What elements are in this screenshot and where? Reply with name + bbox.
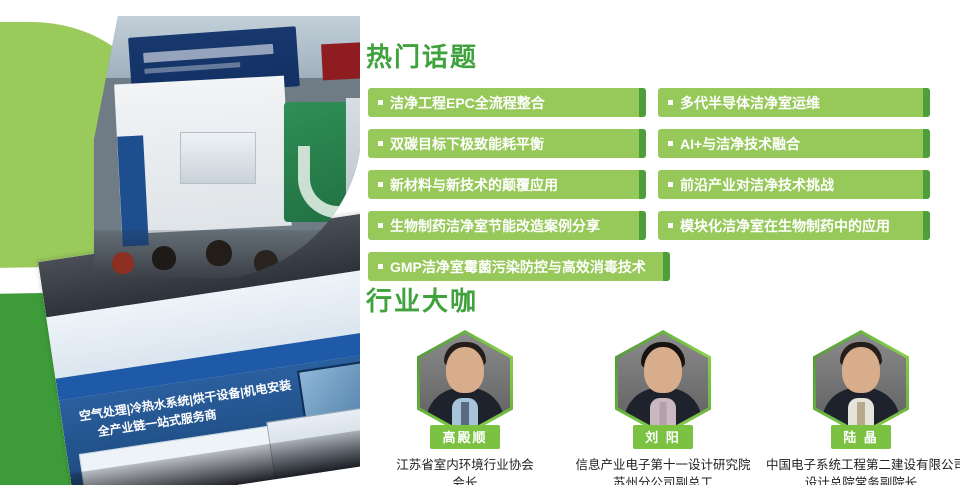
- expert-name-badge: 刘 阳: [633, 425, 693, 449]
- topic-tag[interactable]: 生物制药洁净室节能改造案例分享: [368, 211, 646, 240]
- expert-description: 信息产业电子第十一设计研究院 苏州分公司副总工: [568, 456, 758, 485]
- avatar: [417, 330, 513, 436]
- topic-tag-label: 多代半导体洁净室运维: [680, 93, 820, 113]
- bullet-square-icon: [378, 141, 383, 146]
- topic-tag[interactable]: 洁净工程EPC全流程整合: [368, 88, 646, 117]
- topic-row: 新材料与新技术的颠覆应用 前沿产业对洁净技术挑战: [368, 170, 960, 199]
- topic-tag[interactable]: GMP洁净室霉菌污染防控与高效消毒技术: [368, 252, 670, 281]
- expert-name-badge: 陆 晶: [831, 425, 891, 449]
- expert-org: 江苏省室内环境行业协会: [370, 456, 560, 474]
- expert-description: 中国电子系统工程第二建设有限公司 设计总院常务副院长: [766, 456, 956, 485]
- hall-crowd: [94, 230, 360, 278]
- topic-tag-label: 洁净工程EPC全流程整合: [390, 93, 545, 113]
- topic-tag-label: 双碳目标下极致能耗平衡: [390, 134, 544, 154]
- bullet-square-icon: [378, 223, 383, 228]
- bullet-square-icon: [668, 141, 673, 146]
- expert-card[interactable]: 陆 晶 中国电子系统工程第二建设有限公司 设计总院常务副院长: [762, 330, 960, 485]
- topic-tag[interactable]: 多代半导体洁净室运维: [658, 88, 930, 117]
- bullet-square-icon: [378, 182, 383, 187]
- topic-tag-label: 生物制药洁净室节能改造案例分享: [390, 216, 600, 236]
- avatar: [813, 330, 909, 436]
- content-column: 热门话题 洁净工程EPC全流程整合 多代半导体洁净室运维 双碳目标下极致能耗平衡: [366, 0, 960, 485]
- bullet-square-icon: [668, 182, 673, 187]
- topic-tag[interactable]: 前沿产业对洁净技术挑战: [658, 170, 930, 199]
- person-head: [112, 252, 134, 274]
- page-title-industry-experts: 行业大咖: [366, 288, 478, 314]
- expert-title: 会长: [370, 474, 560, 485]
- product-display: [180, 132, 256, 184]
- expert-name-badge: 高殿顺: [430, 425, 499, 449]
- topic-tag-label: 模块化洁净室在生物制药中的应用: [680, 216, 890, 236]
- person-head: [254, 250, 278, 274]
- portrait-face: [446, 347, 484, 393]
- expert-card[interactable]: 刘 阳 信息产业电子第十一设计研究院 苏州分公司副总工: [564, 330, 762, 485]
- bullet-square-icon: [378, 100, 383, 105]
- topic-tag-label: 前沿产业对洁净技术挑战: [680, 175, 834, 195]
- exhibition-photo-hall: [67, 16, 360, 278]
- topic-tag[interactable]: AI+与洁净技术融合: [658, 129, 930, 158]
- bullet-square-icon: [668, 223, 673, 228]
- person-head: [206, 240, 232, 266]
- topic-tag[interactable]: 双碳目标下极致能耗平衡: [368, 129, 646, 158]
- topic-tag-label: 新材料与新技术的颠覆应用: [390, 175, 558, 195]
- portrait-face: [644, 347, 682, 393]
- expert-list: 高殿顺 江苏省室内环境行业协会 会长 刘 阳: [366, 330, 960, 485]
- photo-collage: 江苏苏净集团有限公司 Jiangsu Sujing Group co.,Ltd.…: [0, 0, 360, 485]
- expert-title: 苏州分公司副总工: [568, 474, 758, 485]
- topic-tag-label: AI+与洁净技术融合: [680, 134, 800, 154]
- topic-tag[interactable]: 模块化洁净室在生物制药中的应用: [658, 211, 930, 240]
- far-wall: [346, 98, 360, 224]
- topic-row: 双碳目标下极致能耗平衡 AI+与洁净技术融合: [368, 129, 960, 158]
- expert-title: 设计总院常务副院长: [766, 474, 956, 485]
- portrait-face: [842, 347, 880, 393]
- expert-card[interactable]: 高殿顺 江苏省室内环境行业协会 会长: [366, 330, 564, 485]
- person-head: [152, 246, 176, 270]
- person-head: [302, 244, 327, 269]
- avatar: [615, 330, 711, 436]
- bullet-square-icon: [378, 264, 383, 269]
- topic-row: 洁净工程EPC全流程整合 多代半导体洁净室运维: [368, 88, 960, 117]
- expert-org: 信息产业电子第十一设计研究院: [568, 456, 758, 474]
- topic-tag-label: GMP洁净室霉菌污染防控与高效消毒技术: [390, 257, 646, 277]
- topic-tag-grid: 洁净工程EPC全流程整合 多代半导体洁净室运维 双碳目标下极致能耗平衡 AI+与…: [368, 88, 960, 293]
- red-sign: [321, 40, 360, 81]
- expert-description: 江苏省室内环境行业协会 会长: [370, 456, 560, 485]
- topic-row: GMP洁净室霉菌污染防控与高效消毒技术: [368, 252, 960, 281]
- poster-canvas: 江苏苏净集团有限公司 Jiangsu Sujing Group co.,Ltd.…: [0, 0, 960, 485]
- topic-row: 生物制药洁净室节能改造案例分享 模块化洁净室在生物制药中的应用: [368, 211, 960, 240]
- topic-tag[interactable]: 新材料与新技术的颠覆应用: [368, 170, 646, 199]
- page-title-hot-topics: 热门话题: [366, 44, 478, 70]
- expert-org: 中国电子系统工程第二建设有限公司: [766, 456, 956, 474]
- bullet-square-icon: [668, 100, 673, 105]
